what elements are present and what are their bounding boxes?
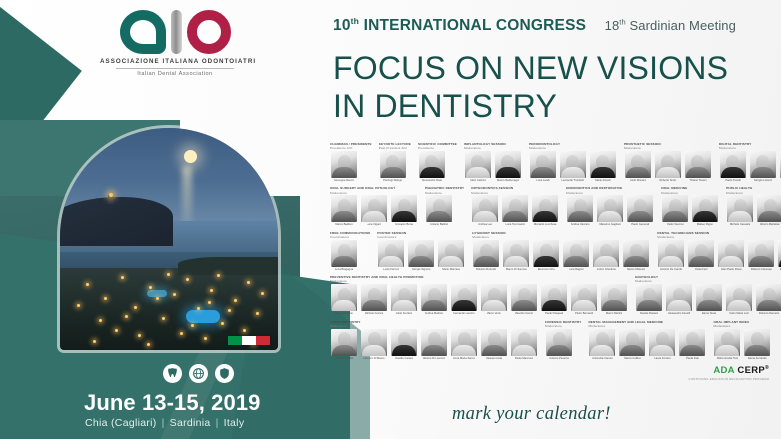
event-city: Chia (Cagliari) — [85, 417, 157, 429]
speaker-name: Lorenzo Di Mauro — [363, 357, 384, 360]
speakers-row: LASER DENTISTRYModeratoreAntonio Pitzali… — [330, 320, 770, 360]
resort-light — [77, 304, 80, 307]
speaker-portrait — [451, 329, 477, 356]
speaker-card: Antonio Pitzalis — [330, 329, 358, 360]
speaker-portrait — [451, 284, 477, 311]
speaker-portrait — [589, 329, 615, 356]
speaker-portrait — [391, 284, 417, 311]
speaker-name: Antonio Pessina — [549, 357, 568, 360]
title-line-1: FOCUS ON NEW VISIONS — [333, 50, 763, 88]
session-role: Coordinatore — [330, 235, 370, 239]
location-separator-1: | — [162, 417, 165, 429]
speaker-portraits: Davide MarianiAlessandro FanelliElena Te… — [635, 284, 781, 315]
logo-letter-o-icon — [187, 10, 231, 54]
speaker-name: Michele Ferrara — [365, 312, 384, 315]
congress-eyebrow: 10th INTERNATIONAL CONGRESS 18th Sardini… — [333, 16, 736, 35]
speaker-portraits: Andrea LeoLuca TommasiniRiccardo Lucches… — [471, 195, 559, 226]
speaker-name: Paolo Generali — [631, 223, 649, 226]
speaker-card: Paolo Tonelli — [719, 151, 747, 182]
speaker-portraits: Maria Grazia ToroElena Ferrando — [713, 329, 771, 360]
session-heading: LASER DENTISTRYModeratore — [330, 320, 538, 329]
resort-light — [147, 343, 150, 346]
cerp-text: CERP — [737, 365, 765, 376]
speaker-card: Riccardo Lucchese — [531, 195, 559, 226]
speaker-portraits: Roberto RotundoMarco Di SummaEleonora Or… — [472, 240, 650, 271]
speaker-name: Marco Milanesi — [627, 268, 645, 271]
speaker-portrait — [541, 284, 567, 311]
speaker-name: Fernando Laurino — [453, 312, 474, 315]
speaker-portrait — [649, 329, 675, 356]
title-line-2: IN DENTISTRY — [333, 88, 763, 126]
speaker-session-group: ORAL IMPLANT INDEXModeratoreMaria Grazia… — [713, 320, 771, 360]
speaker-card: Marco Di Summa — [502, 240, 530, 271]
speaker-card: Tiziano Testori — [684, 151, 712, 182]
session-heading: HYGIENIST SESSIONModeratore — [472, 231, 650, 240]
session-role: Moderatore — [330, 279, 628, 283]
speaker-session-group: ORTHODONTICS SESSIONModeratoreAndrea Leo… — [471, 186, 559, 226]
session-heading: POSTER SESSIONCoordinatore — [377, 231, 465, 240]
resort-light — [247, 281, 250, 284]
event-date: June 13-15, 2019 — [84, 390, 261, 416]
speaker-portrait — [619, 329, 645, 356]
event-country: Italy — [224, 417, 245, 429]
resort-light — [217, 274, 220, 277]
resort-light — [162, 317, 165, 320]
speaker-portraits: Luca Bragagna — [330, 240, 370, 271]
speaker-card: Roberto Canessa — [747, 240, 775, 271]
speaker-portrait — [391, 329, 417, 356]
globe-tooth-icon — [189, 364, 208, 383]
speaker-portraits: Michele CassettaAlberto Barlattani — [726, 195, 781, 226]
speaker-portrait — [563, 240, 589, 267]
speaker-name: Paola Ferri — [695, 268, 708, 271]
speaker-card: Emanuele Landrini — [777, 240, 781, 271]
speaker-session-group: DENTAL TECHNICIANS SESSIONModeratoreAnto… — [657, 231, 781, 271]
speaker-name: Alberto Di Lorenzo — [423, 357, 445, 360]
logo-divider — [116, 68, 234, 69]
italian-flag — [228, 336, 270, 345]
session-heading: DENTAL TECHNICIANS SESSIONModeratore — [657, 231, 781, 240]
speaker-portrait — [502, 195, 528, 222]
speaker-name: Roberto Canessa — [751, 268, 772, 271]
speaker-card: Marco Verini — [480, 284, 508, 315]
speaker-portrait — [511, 284, 537, 311]
speaker-portrait — [380, 151, 406, 178]
speaker-name: Marco Martini — [606, 312, 622, 315]
speaker-session-group: DENTAL MANAGEMENT AND LEGAL MEDICINEMode… — [588, 320, 706, 360]
registered-icon: ® — [765, 365, 769, 371]
speaker-card: Paolo Pasquali — [540, 284, 568, 315]
speaker-name: Michele Cassetta — [730, 223, 751, 226]
speaker-card: Leonardo Trombelli — [559, 151, 587, 182]
session-role: Past President AIO — [379, 146, 411, 150]
session-role: Moderatore — [657, 235, 781, 239]
speaker-name: Marco Verini — [487, 312, 502, 315]
speaker-portraits: Alessandro Nisio — [418, 151, 457, 182]
speaker-portrait — [692, 195, 718, 222]
speaker-portrait — [495, 151, 521, 178]
speaker-portraits: Lucia FerreroGiorgio SignoreMario Marzan… — [377, 240, 465, 271]
speaker-card: Paolo Vescovi — [661, 195, 689, 226]
speaker-name: Luca Bragagna — [335, 268, 353, 271]
speaker-portraits: Marco BaldoniLuca ViganòGiovanni Bona — [330, 195, 418, 226]
congress-label: 10th INTERNATIONAL CONGRESS — [333, 17, 586, 34]
speaker-card: Roberto Scotti — [654, 151, 682, 182]
speaker-card: Antonio De Carolis — [657, 240, 685, 271]
session-heading: GNATHOLOGYModeratore — [635, 275, 781, 284]
resort-light — [256, 312, 259, 315]
speaker-name: Andrea Leo — [478, 223, 492, 226]
speaker-name: Luca Giordano — [335, 312, 353, 315]
speaker-card: Luca Viganò — [360, 195, 388, 226]
speaker-card: Gian Paolo Rossi — [717, 240, 745, 271]
speaker-portrait — [473, 240, 499, 267]
speaker-card: Luca Tommasini — [501, 195, 529, 226]
speaker-card: Giorgio Lorenzi — [749, 151, 777, 182]
speaker-portrait — [331, 195, 357, 222]
speaker-name: Luca Ragoni — [569, 268, 584, 271]
session-heading: DIGITAL DENTISTRYModeratore — [719, 142, 781, 151]
speaker-name: Eleonora Ortu — [538, 268, 555, 271]
speaker-card: Giorgio Signore — [407, 240, 435, 271]
session-role: Moderatore — [726, 191, 781, 195]
speaker-card: Paola Ferri — [687, 240, 715, 271]
speaker-portrait — [636, 284, 662, 311]
speaker-card: Alessandro Nisio — [418, 151, 446, 182]
session-role: Moderatore — [529, 146, 617, 150]
speaker-name: Luca Landi — [536, 179, 549, 182]
speaker-portrait — [688, 240, 714, 267]
logo-letter-i-icon — [171, 10, 182, 54]
speaker-card: Pierluigi Delogu — [379, 151, 407, 182]
speaker-portrait — [331, 240, 357, 267]
resort-light — [86, 283, 89, 286]
speaker-portrait — [465, 151, 491, 178]
speaker-card: Michele Cassetta — [726, 195, 754, 226]
speaker-card: Giovanni Bona — [390, 195, 418, 226]
speaker-name: Antonio Battisti — [430, 223, 448, 226]
speaker-portrait — [361, 329, 387, 356]
speaker-portrait — [472, 195, 498, 222]
resort-light — [180, 332, 183, 335]
speaker-card: Matteo Rigoni — [691, 195, 719, 226]
event-location: Chia (Cagliari)|Sardinia|Italy — [85, 417, 244, 429]
session-role: Moderatore — [425, 191, 464, 195]
speaker-card: Giuseppe Renzo — [330, 151, 358, 182]
session-heading: PREVENTIVE DENTISTRY AND ORAL HEALTH PRO… — [330, 275, 628, 284]
congress-poster: ASSOCIAZIONE ITALIANA ODONTOIATRI Italia… — [0, 0, 781, 439]
speaker-name: Gian Paolo Rossi — [721, 268, 742, 271]
speaker-portrait — [625, 151, 651, 178]
speaker-card: Fernando Laurino — [450, 284, 478, 315]
speaker-session-group: FREE COMMUNICATIONSCoordinatoreLuca Brag… — [330, 231, 370, 271]
speaker-card: Paolo Generali — [626, 195, 654, 226]
resort-light — [197, 307, 200, 310]
speaker-name: Luca Viganò — [367, 223, 382, 226]
speaker-portrait — [408, 240, 434, 267]
speaker-name: Paolo Vescovi — [667, 223, 684, 226]
speaker-name: Elena Ferrando — [748, 357, 767, 360]
speaker-card: Marco Milanesi — [622, 240, 650, 271]
speaker-name: Antonio Pitzalis — [335, 357, 353, 360]
speaker-card: Alessandro Fanelli — [665, 284, 693, 315]
speaker-portrait — [757, 195, 781, 222]
speaker-name: Giovanni Bona — [395, 223, 413, 226]
speaker-portraits: Luca LandiLeonardo TrombelliMario Aimett… — [529, 151, 617, 182]
speaker-portrait — [530, 151, 556, 178]
speaker-portrait — [597, 195, 623, 222]
speaker-portrait — [658, 240, 684, 267]
speaker-portrait — [593, 240, 619, 267]
resort-light — [93, 340, 96, 343]
speaker-card: Lorenzo Di Mauro — [360, 329, 388, 360]
speaker-card: Andrea Leo — [471, 195, 499, 226]
speaker-card: Marco Martini — [600, 284, 628, 315]
speaker-card: Lucia Ferrero — [377, 240, 405, 271]
speaker-portrait — [421, 284, 447, 311]
tooth-shield-icon — [215, 364, 234, 383]
speaker-card: Marco Redemagni — [494, 151, 522, 182]
speaker-portraits: Carlo MonacoRoberto ScottiTiziano Testor… — [624, 151, 712, 182]
resort-light — [149, 286, 152, 289]
speaker-portrait — [438, 240, 464, 267]
speaker-name: Mario Aimetti — [595, 179, 611, 182]
speaker-portraits: Antonio Battisti — [425, 195, 464, 226]
speaker-card: Roberto Dametto — [755, 284, 781, 315]
tooth-person-icon — [163, 364, 182, 383]
speaker-card: Paola Mancuso — [510, 329, 538, 360]
session-role: Moderatore — [566, 191, 654, 195]
speaker-card: Maria Grazia Toro — [713, 329, 741, 360]
speaker-portrait — [718, 240, 744, 267]
session-role: Moderatore — [330, 191, 418, 195]
speaker-name: Lucia Ferrero — [383, 268, 399, 271]
speaker-session-group: PUBLIC HEALTHModeratoreMichele CassettaA… — [726, 186, 781, 226]
speaker-session-group: ENDODONTICS AND RESTORATIVEModeratoreAnd… — [566, 186, 654, 226]
speaker-portrait — [679, 329, 705, 356]
resort-light — [138, 334, 141, 337]
speaker-session-group: GNATHOLOGYModeratoreDavide MarianiAlessa… — [635, 275, 781, 315]
headland — [60, 197, 173, 246]
speaker-portrait — [532, 195, 558, 222]
resort-light — [261, 292, 264, 295]
speaker-name: Marco Di Summa — [506, 268, 527, 271]
speaker-card: Maurizio Ferrari — [510, 284, 538, 315]
meeting-title: Sardinian Meeting — [626, 18, 736, 33]
speaker-portrait — [696, 284, 722, 311]
resort-light — [121, 276, 124, 279]
speaker-name: Giuseppe Renzo — [334, 179, 354, 182]
speaker-name: Pierluigi Delogu — [383, 179, 402, 182]
speaker-portrait — [567, 195, 593, 222]
speaker-portraits: Andrea VaccaroMassimo GaglianiPaolo Gene… — [566, 195, 654, 226]
speaker-portrait — [571, 284, 597, 311]
speaker-session-group: SCIENTIFIC COMMITTEEPresidenteAlessandro… — [418, 142, 457, 182]
chia-bay-arch-photo — [60, 128, 278, 350]
speaker-card: Mario Aimetti — [589, 151, 617, 182]
speaker-name: Fabio Carboni — [470, 179, 487, 182]
speaker-portrait — [378, 240, 404, 267]
speaker-card: Luca Landi — [529, 151, 557, 182]
session-role: Moderatore — [588, 324, 706, 328]
speaker-card: Laura Ferrero — [648, 329, 676, 360]
speaker-name: Paolo Tonelli — [725, 179, 740, 182]
speaker-portrait — [685, 151, 711, 178]
resort-light — [234, 299, 237, 302]
speaker-portraits: Giuseppe Renzo — [330, 151, 372, 182]
speaker-name: Anna Maria Zanco — [453, 357, 475, 360]
speaker-portrait — [726, 284, 752, 311]
organization-subtitle: Italian Dental Association — [100, 71, 250, 77]
speaker-card: Antonio Battisti — [425, 195, 453, 226]
speaker-card: Michele Ferrara — [360, 284, 388, 315]
speaker-portrait — [750, 151, 776, 178]
speaker-portrait — [481, 284, 507, 311]
speaker-session-group: CHAIRMAN / PRESIDENTEPresidente AIOGiuse… — [330, 142, 372, 182]
speaker-name: Mario Marzano — [442, 268, 460, 271]
speaker-card: Marco Baldoni — [330, 195, 358, 226]
aio-logo-mark — [100, 8, 250, 54]
speakers-row: CHAIRMAN / PRESIDENTEPresidente AIOGiuse… — [330, 142, 770, 182]
speaker-card: Carlo Maria Luzi — [725, 284, 753, 315]
speaker-card: Luca Bragagna — [330, 240, 358, 271]
speaker-portraits: Paolo VescoviMatteo Rigoni — [661, 195, 719, 226]
flag-green — [228, 336, 242, 345]
session-role: Moderatore — [330, 324, 538, 328]
session-heading: ORAL MEDICINEModeratore — [661, 186, 719, 195]
session-heading: KEYNOTE LECTUREPast President AIO — [379, 142, 411, 151]
speaker-card: Carlo Monaco — [624, 151, 652, 182]
flag-red — [256, 336, 270, 345]
speaker-portraits: Antonio De CarolisPaola FerriGian Paolo … — [657, 240, 781, 271]
speaker-name: Tiziano Testori — [689, 179, 706, 182]
speaker-name: Giorgio Lorenzi — [754, 179, 772, 182]
speaker-name: Alessandro Fanelli — [668, 312, 690, 315]
session-heading: CHAIRMAN / PRESIDENTEPresidente AIO — [330, 142, 372, 151]
speaker-card: Luca Ragoni — [562, 240, 590, 271]
speaker-card: Carlo Ferrario — [390, 284, 418, 315]
resort-light — [115, 329, 118, 332]
speaker-name: Antonella Caruso — [592, 357, 613, 360]
speaker-card: Elena Testa — [695, 284, 723, 315]
ada-cerp-fine-print: CONTINUING EDUCATION RECOGNITION PROGRAM — [689, 377, 770, 381]
speaker-portrait — [662, 195, 688, 222]
speaker-portrait — [744, 329, 770, 356]
speaker-card: Paola Fais — [678, 329, 706, 360]
speaker-session-group: HYGIENIST SESSIONModeratoreRoberto Rotun… — [472, 231, 650, 271]
congress-number: 10 — [333, 17, 351, 34]
resort-light — [125, 315, 128, 318]
session-heading: ORAL IMPLANT INDEXModeratore — [713, 320, 771, 329]
location-separator-2: | — [216, 417, 219, 429]
speaker-name: Marco Collina — [624, 357, 640, 360]
speaker-name: Carlo Monaco — [630, 179, 647, 182]
topic-icons — [163, 364, 234, 383]
session-heading: PROSTHETIC SESSIONModeratore — [624, 142, 712, 151]
speaker-portrait — [481, 329, 507, 356]
session-heading: ORAL SURGERY AND ORAL PATHOLOGYModerator… — [330, 186, 418, 195]
speaker-name: Claudio Carano — [395, 357, 414, 360]
speaker-portraits: Fabio CarboniMarco Redemagni — [464, 151, 522, 182]
speaker-portrait — [601, 284, 627, 311]
resort-light — [134, 306, 137, 309]
resort-light — [228, 309, 231, 312]
congress-title: INTERNATIONAL CONGRESS — [359, 17, 586, 34]
speaker-card: Antonio Pessina — [545, 329, 573, 360]
speaker-session-group: IMPLANTOLOGY SESSIONModeratoreFabio Carb… — [464, 142, 522, 182]
speaker-name: Enrico Gherlone — [597, 268, 616, 271]
resort-light — [186, 278, 189, 281]
speaker-portrait — [391, 195, 417, 222]
speaker-portrait — [655, 151, 681, 178]
speaker-portrait — [331, 329, 357, 356]
speaker-portrait — [756, 284, 781, 311]
speaker-portraits: Antonio Pessina — [545, 329, 581, 360]
speaker-card: Fabio Carboni — [464, 151, 492, 182]
speaker-name: Roberto Rotundo — [476, 268, 496, 271]
speaker-name: Giorgio Signore — [412, 268, 431, 271]
speaker-portrait — [627, 195, 653, 222]
session-heading: FORENSIC DENTISTRYModeratore — [545, 320, 581, 329]
speaker-card: Massimo Gagliani — [596, 195, 624, 226]
speaker-name: Roberto Scotti — [659, 179, 676, 182]
speaker-card: Eleonora Ortu — [532, 240, 560, 271]
speaker-name: Massimo Gagliani — [599, 223, 620, 226]
event-region: Sardinia — [170, 417, 211, 429]
session-heading: SCIENTIFIC COMMITTEEPresidente — [418, 142, 457, 151]
resort-light — [210, 289, 213, 292]
speaker-name: Elena Testa — [702, 312, 716, 315]
session-heading: PERIODONTOLOGYModeratore — [529, 142, 617, 151]
resort-light — [167, 273, 170, 276]
session-role: Moderatore — [719, 146, 781, 150]
session-heading: PUBLIC HEALTHModeratore — [726, 186, 781, 195]
speaker-session-group: KEYNOTE LECTUREPast President AIOPierlui… — [379, 142, 411, 182]
speakers-row: PREVENTIVE DENTISTRY AND ORAL HEALTH PRO… — [330, 275, 770, 315]
session-heading: ORTHODONTICS SESSIONModeratore — [471, 186, 559, 195]
session-role: Presidente AIO — [330, 146, 372, 150]
speaker-card: Marco Collina — [618, 329, 646, 360]
speaker-name: Alessia Carta — [486, 357, 502, 360]
session-role: Moderatore — [545, 324, 581, 328]
resort-light — [208, 301, 211, 304]
session-heading: PAEDIATRIC DENTISTRYModeratore — [425, 186, 464, 195]
speaker-name: Leonardo Trombelli — [561, 179, 584, 182]
speaker-session-group: LASER DENTISTRYModeratoreAntonio Pitzali… — [330, 320, 538, 360]
speaker-session-group: PAEDIATRIC DENTISTRYModeratoreAntonio Ba… — [425, 186, 464, 226]
session-role: Moderatore — [635, 279, 781, 283]
session-role: Moderatore — [713, 324, 771, 328]
speaker-name: Paola Fais — [686, 357, 699, 360]
meeting-number: 18 — [605, 18, 620, 33]
speaker-portrait — [590, 151, 616, 178]
speaker-name: Carlo Ferrario — [396, 312, 413, 315]
speaker-name: Andrea Mattioni — [425, 312, 444, 315]
speaker-portraits: Luca GiordanoMichele FerraraCarlo Ferrar… — [330, 284, 628, 315]
speaker-portrait — [727, 195, 753, 222]
speaker-card: Andrea Mattioni — [420, 284, 448, 315]
session-role: Moderatore — [464, 146, 522, 150]
speaker-name: Maurizio Ferrari — [515, 312, 534, 315]
speaker-portrait — [331, 151, 357, 178]
speaker-session-group: DIGITAL DENTISTRYModeratorePaolo Tonelli… — [719, 142, 781, 182]
speaker-session-group: ORAL SURGERY AND ORAL PATHOLOGYModerator… — [330, 186, 418, 226]
speaker-portrait — [720, 151, 746, 178]
speaker-card: Luca Giordano — [330, 284, 358, 315]
speakers-row: FREE COMMUNICATIONSCoordinatoreLuca Brag… — [330, 231, 770, 271]
speaker-card: Anna Maria Zanco — [450, 329, 478, 360]
speaker-name: Matteo Rigoni — [697, 223, 714, 226]
